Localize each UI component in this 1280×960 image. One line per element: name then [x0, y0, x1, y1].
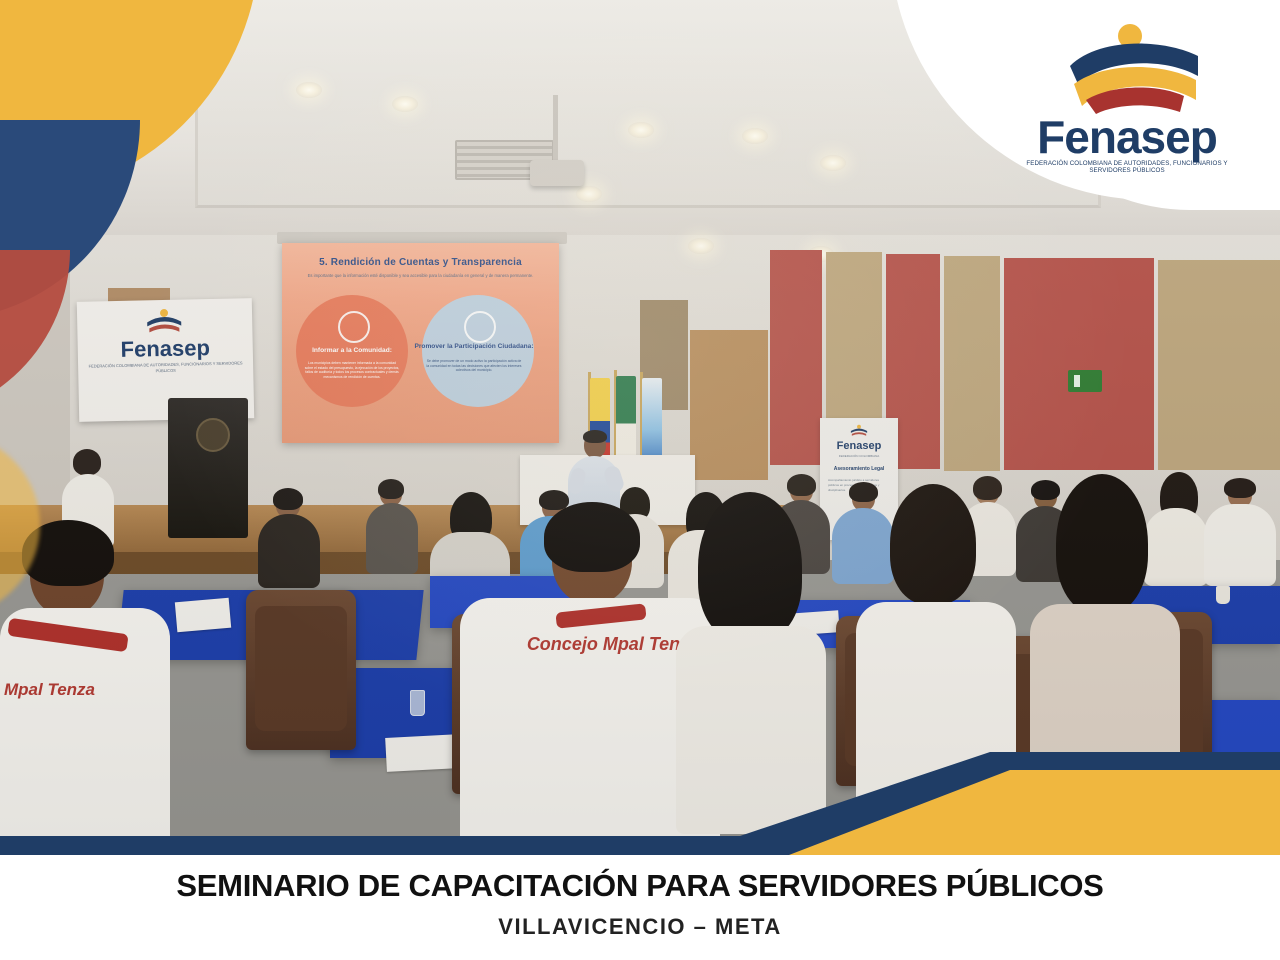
poster-root: 5. Rendición de Cuentas y Transparencia …: [0, 0, 1280, 960]
fenasep-figure-mark: [1012, 22, 1242, 114]
logo-tagline: FEDERACIÓN COLOMBIANA DE AUTORIDADES, FU…: [1012, 160, 1242, 174]
poster-caption: SEMINARIO DE CAPACITACIÓN PARA SERVIDORE…: [0, 868, 1280, 904]
fenasep-logo: Fenasep FEDERACIÓN COLOMBIANA DE AUTORID…: [1012, 22, 1242, 172]
logo-wordmark: Fenasep: [1012, 110, 1242, 164]
poster-subcaption: VILLAVICENCIO – META: [0, 914, 1280, 940]
